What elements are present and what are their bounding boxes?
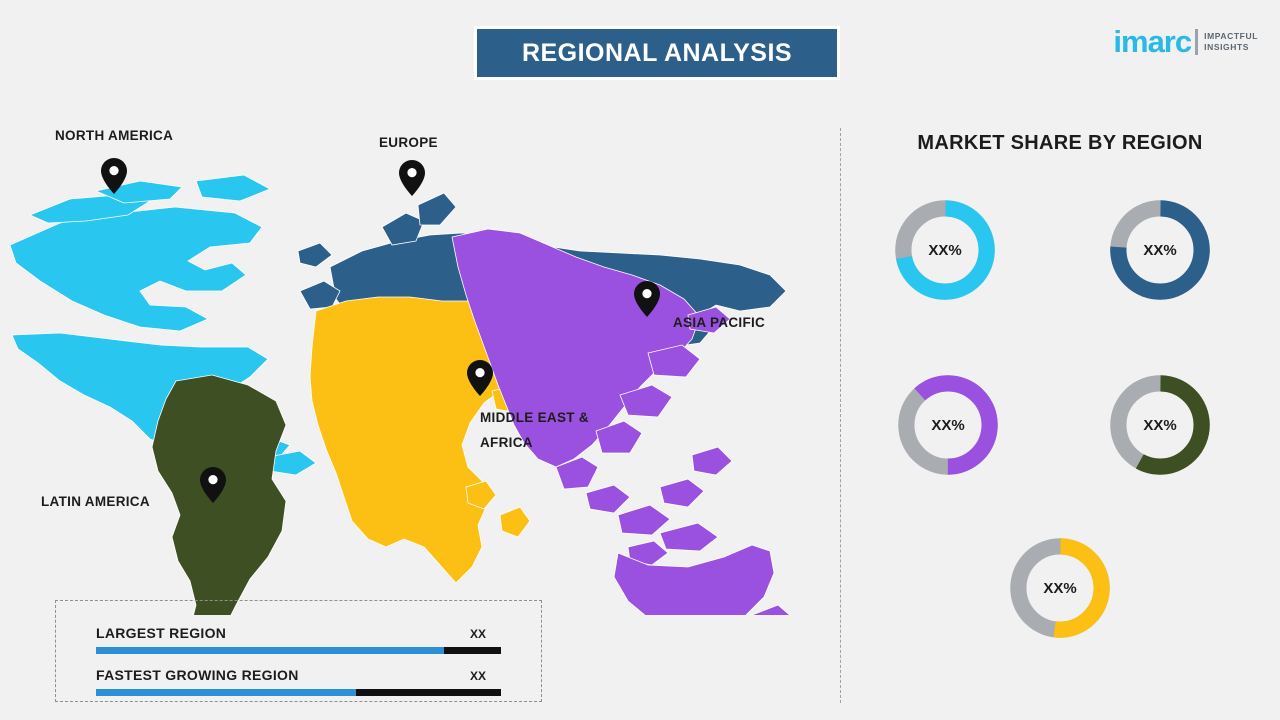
legend-fill-largest-region: [96, 647, 444, 654]
label-middle-east-africa-1: MIDDLE EAST &: [480, 408, 589, 427]
donut-label-middle-east-africa: XX%: [1005, 533, 1115, 643]
map-pin-north-america: [101, 158, 127, 194]
legend-value-largest-region: XX: [470, 627, 486, 641]
donut-europe: XX%: [1105, 195, 1215, 305]
page-title-text: REGIONAL ANALYSIS: [522, 39, 792, 68]
legend-label-largest-region: LARGEST REGION: [96, 625, 226, 641]
map-pin-latin-america: [200, 467, 226, 503]
donut-label-north-america: XX%: [890, 195, 1000, 305]
donut-asia-pacific: XX%: [893, 370, 1003, 480]
label-latin-america: LATIN AMERICA: [41, 492, 150, 511]
page-title: REGIONAL ANALYSIS: [474, 26, 840, 80]
logo-tagline-2: INSIGHTS: [1204, 42, 1258, 53]
map-pin-middle-east-africa: [467, 360, 493, 396]
vertical-divider: [840, 128, 841, 703]
label-asia-pacific: ASIA PACIFIC: [673, 313, 765, 332]
donut-label-asia-pacific: XX%: [893, 370, 1003, 480]
logo-tagline-1: IMPACTFUL: [1204, 31, 1258, 42]
market-share-title: MARKET SHARE BY REGION: [840, 132, 1280, 155]
donut-latin-america: XX%: [1105, 370, 1215, 480]
legend-value-fastest-growing-region: XX: [470, 669, 486, 683]
donut-north-america: XX%: [890, 195, 1000, 305]
donut-middle-east-africa: XX%: [1005, 533, 1115, 643]
legend-label-fastest-growing-region: FASTEST GROWING REGION: [96, 667, 299, 683]
label-middle-east-africa-2: AFRICA: [480, 433, 533, 452]
donut-label-europe: XX%: [1105, 195, 1215, 305]
label-north-america: NORTH AMERICA: [55, 126, 173, 145]
logo-wordmark: imarc: [1113, 26, 1191, 57]
donut-label-latin-america: XX%: [1105, 370, 1215, 480]
map-pin-asia-pacific: [634, 281, 660, 317]
logo-divider: [1195, 29, 1198, 55]
imarc-logo: imarc IMPACTFUL INSIGHTS: [1113, 26, 1258, 57]
legend-box: LARGEST REGION XX FASTEST GROWING REGION…: [55, 600, 542, 702]
legend-fill-fastest-growing-region: [96, 689, 356, 696]
map-pin-europe: [399, 160, 425, 196]
label-europe: EUROPE: [379, 133, 438, 152]
